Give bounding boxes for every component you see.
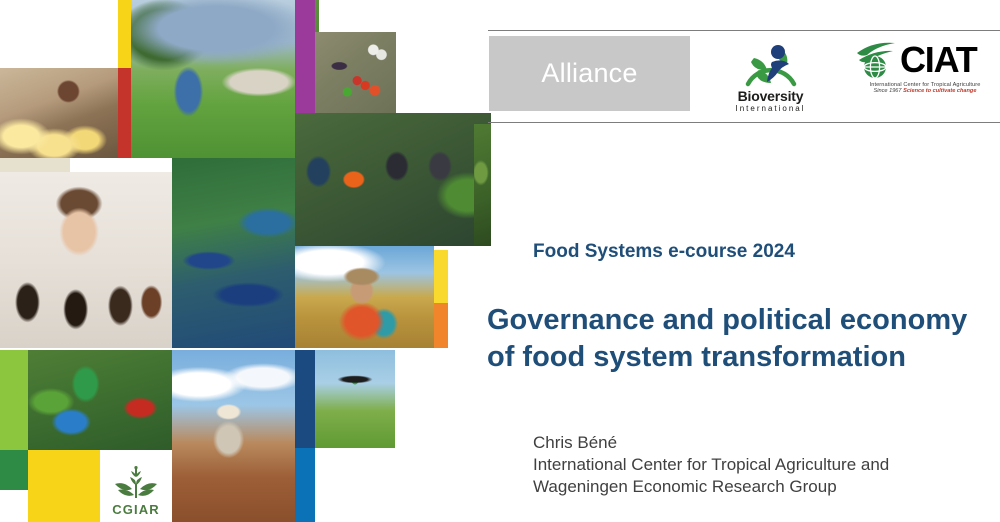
photo-field-school-group — [295, 113, 491, 246]
photo-cattle-pasture — [131, 0, 295, 158]
navy-bar-bottom — [295, 350, 315, 448]
tan-block-left — [0, 158, 70, 172]
author-affiliation-line2: Wageningen Economic Research Group — [533, 476, 993, 498]
photo-leaf-fragment — [474, 124, 491, 246]
page-title-line1: Governance and political economy — [487, 302, 997, 339]
cgiar-label: CGIAR — [100, 502, 172, 517]
light-green-block — [0, 350, 28, 450]
alliance-logo-box: Alliance — [489, 36, 690, 111]
ciat-mark-icon — [855, 40, 899, 80]
orange-bar-right — [434, 303, 448, 348]
ciat-slogan: Science to cultivate change — [903, 88, 976, 94]
photo-farmer-red-soil — [172, 350, 295, 522]
page-title: Governance and political economy of food… — [487, 302, 997, 375]
photo-woman-bananas — [0, 68, 118, 158]
photo-lab-scientist — [0, 172, 172, 348]
bioversity-international-logo: Bioversity International — [718, 38, 823, 110]
author-block: Chris Béné International Center for Trop… — [533, 432, 993, 498]
presentation-slide: CGIAR Alliance Bioversity International — [0, 0, 1000, 522]
header-rule-top — [488, 30, 1000, 31]
photo-quinoa-farmer — [295, 246, 434, 348]
ciat-tagline-line2: Since 1967 Science to cultivate change — [855, 88, 995, 94]
alliance-label: Alliance — [541, 58, 637, 89]
bioversity-wordmark: Bioversity — [718, 89, 823, 103]
photo-drone-rice — [315, 350, 395, 448]
purple-bar-top — [295, 0, 315, 113]
header-rule-bottom — [488, 122, 1000, 123]
photo-market-vendor — [28, 350, 172, 450]
cgiar-logo: CGIAR — [100, 466, 172, 517]
bioversity-mark-icon — [718, 38, 823, 88]
ciat-since: Since 1967 — [874, 88, 902, 94]
author-name: Chris Béné — [533, 432, 993, 454]
cgiar-mark-icon — [114, 466, 158, 502]
red-bar-left — [118, 68, 131, 158]
ciat-wordmark: CIAT — [900, 42, 977, 78]
yellow-bar-top-left — [118, 0, 131, 68]
photo-vegetables-flatlay — [315, 32, 396, 113]
yellow-bar-right — [434, 250, 448, 303]
author-affiliation-line1: International Center for Tropical Agricu… — [533, 454, 993, 476]
page-title-line2: of food system transformation — [487, 339, 997, 376]
blue-bar-bottom — [295, 448, 315, 522]
yellow-block-bottom — [28, 450, 100, 522]
photo-wetland-aerial — [172, 158, 295, 348]
ciat-logo: CIAT International Center for Tropical A… — [855, 40, 995, 106]
course-label: Food Systems e-course 2024 — [533, 241, 795, 263]
dark-green-block — [0, 450, 28, 490]
bioversity-subword: International — [718, 105, 823, 113]
